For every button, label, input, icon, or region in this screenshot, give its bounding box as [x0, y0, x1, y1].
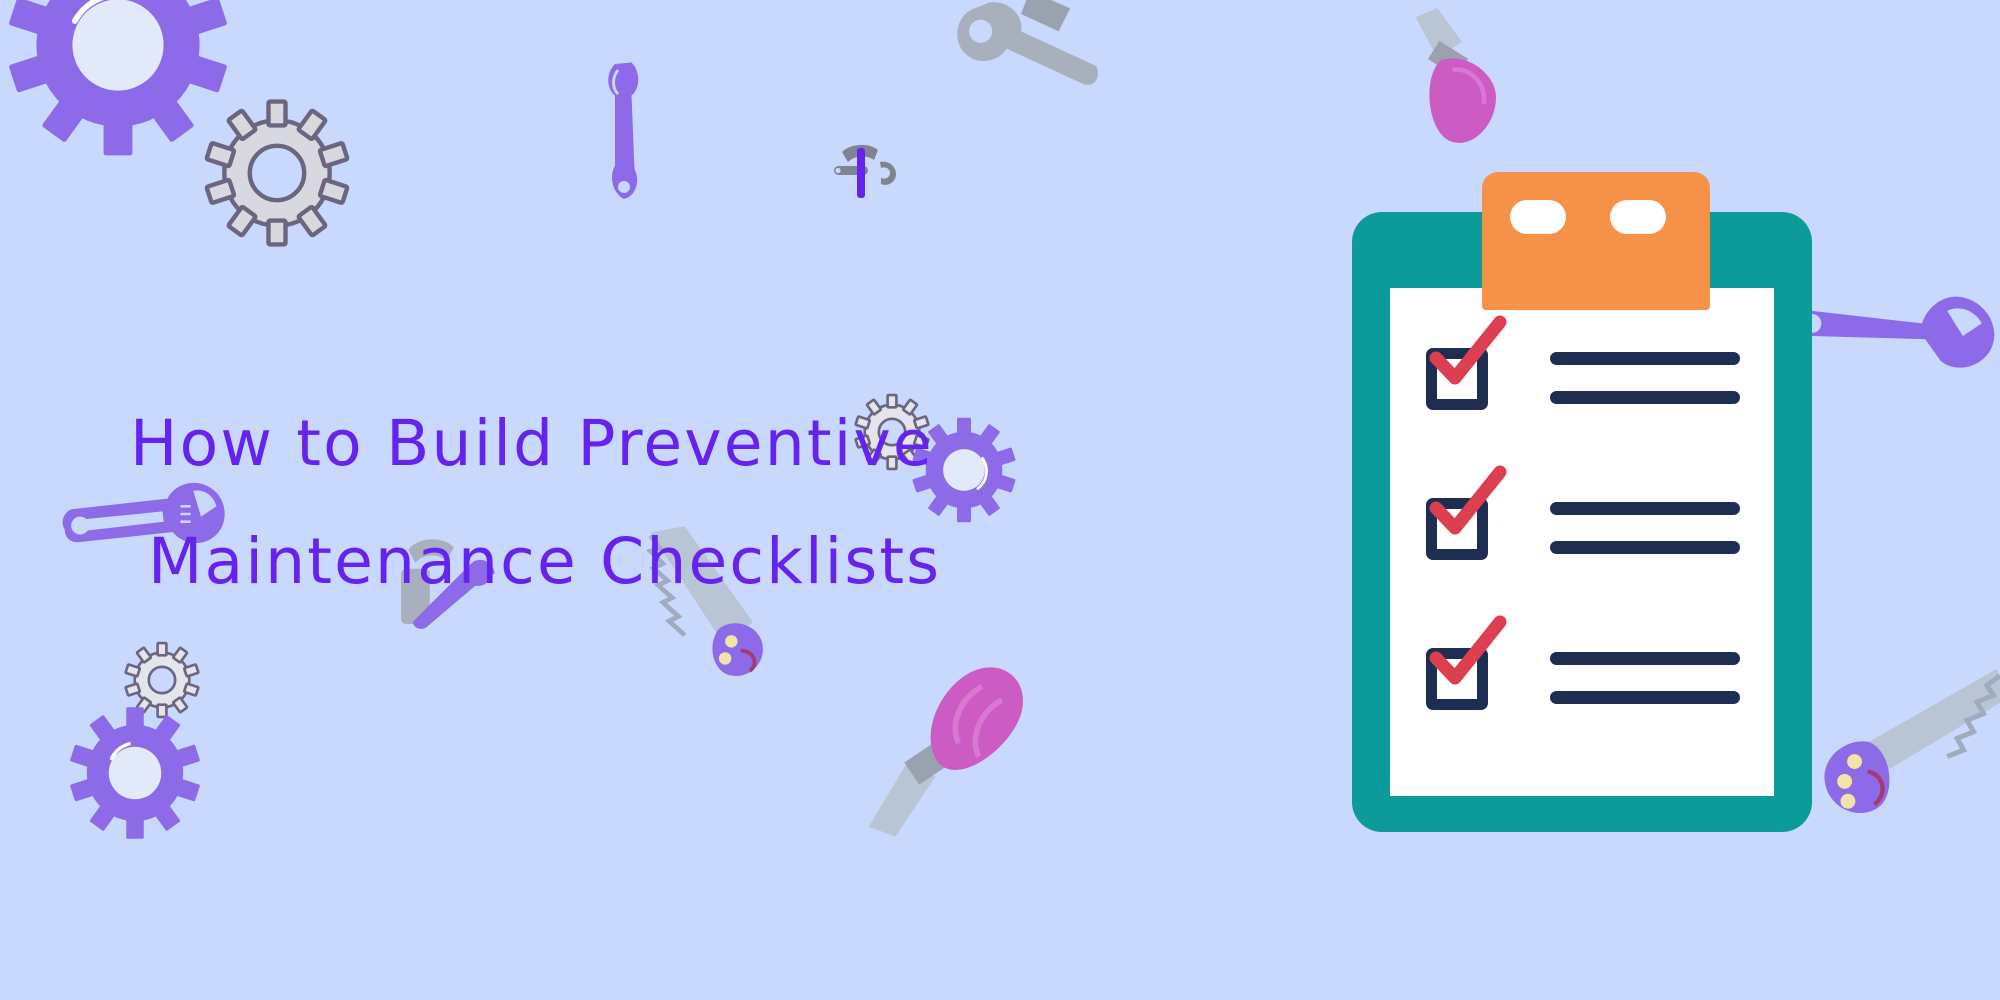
text-line: [1550, 691, 1740, 704]
gear-gray-bottomleft-icon: [118, 636, 206, 724]
screwdriver-magenta-topright-icon: [1370, 8, 1520, 178]
gear-gray-topleft-icon: [192, 88, 362, 258]
checklist-text-lines: [1550, 352, 1740, 430]
clip-slot-right: [1610, 200, 1666, 234]
checklist-item: [1390, 484, 1774, 584]
screwdriver-magenta-bottom-icon: [862, 640, 1052, 840]
page-title: How to Build Preventive Maintenance Chec…: [120, 385, 1100, 621]
wrench-purple-right-icon: [1790, 270, 2000, 380]
checkmark-icon: [1422, 312, 1508, 398]
wrench-purple-topleft-icon: [592, 58, 656, 208]
clipboard-illustration: [1352, 212, 1812, 832]
saw-purple-bottomright-icon: [1795, 660, 2000, 830]
gear-purple-large-topleft-icon: [0, 0, 238, 165]
page-title-line-1: How to Build Preventive: [120, 385, 1100, 503]
wrench-gray-topcenter-icon: [940, 0, 1105, 118]
text-line: [1550, 502, 1740, 515]
page-title-line-2: Maintenance Checklists: [120, 503, 1100, 621]
banner-canvas: How to Build Preventive Maintenance Chec…: [0, 0, 2000, 1000]
text-line: [1550, 541, 1740, 554]
checklist-item: [1390, 634, 1774, 734]
clip-slot-left: [1510, 200, 1566, 234]
text-line: [1550, 352, 1740, 365]
clipboard-paper: [1390, 288, 1774, 796]
text-line: [1550, 652, 1740, 665]
checklist-text-lines: [1550, 652, 1740, 730]
checklist-text-lines: [1550, 502, 1740, 580]
hammer-wrench-topcenter-icon: [828, 138, 908, 210]
gear-purple-bottomleft-icon: [62, 700, 208, 846]
checklist-item: [1390, 334, 1774, 434]
clipboard-clip: [1482, 172, 1710, 310]
checkmark-icon: [1422, 462, 1508, 548]
text-line: [1550, 391, 1740, 404]
checkmark-icon: [1422, 612, 1508, 698]
